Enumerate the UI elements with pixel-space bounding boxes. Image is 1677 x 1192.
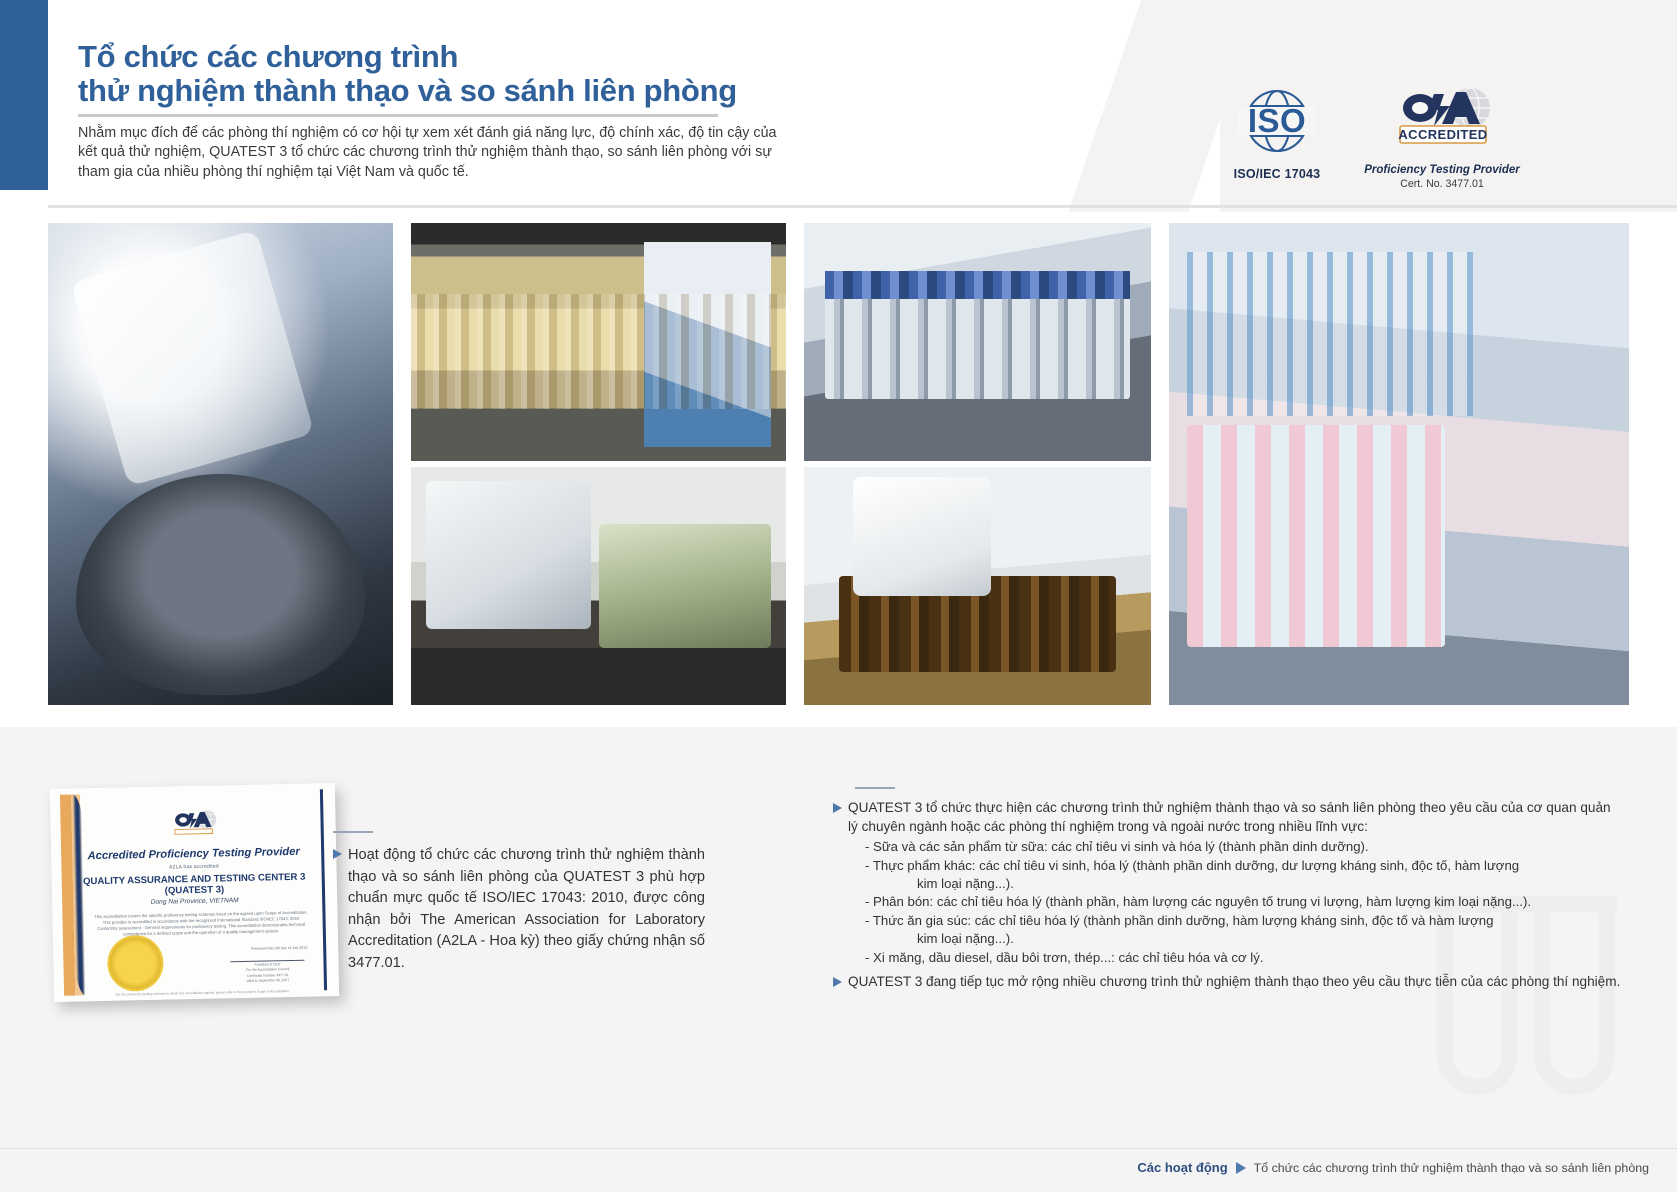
header-blue-sidebar (0, 0, 48, 190)
list-item: - Xi măng, dầu diesel, dầu bôi trơn, thé… (833, 949, 1623, 967)
certificate-org: QUALITY ASSURANCE AND TESTING CENTER 3 (… (52, 871, 337, 899)
page-title: Tổ chức các chương trình thử nghiệm thàn… (78, 40, 1078, 108)
page-header: Tổ chức các chương trình thử nghiệm thàn… (0, 0, 1677, 212)
photo-gallery (0, 212, 1677, 727)
list-item: - Sữa và các sản phẩm từ sữa: các chỉ ti… (833, 838, 1623, 856)
list-item-continuation: kim loại nặng...). (865, 930, 1623, 948)
list-item: - Thực phẩm khác: các chỉ tiêu vi sinh, … (833, 857, 1623, 894)
middle-tick-rule (333, 831, 373, 833)
certificate-signature-block: President & CEO For the Accreditation Co… (230, 960, 304, 984)
header-blue-sidebar-foot (0, 190, 48, 212)
right-tick-rule (855, 787, 895, 789)
a2la-caption-primary: Proficiency Testing Provider (1352, 164, 1532, 176)
certificate-thumbnail[interactable]: Accredited Proficiency Testing Provider … (50, 783, 339, 1002)
list-item-text: - Sữa và các sản phẩm từ sữa: các chỉ ti… (865, 839, 1369, 854)
list-item-text: - Thức ăn gia súc: các chỉ tiêu hóa lý (… (865, 913, 1493, 928)
arrow-right-icon (1236, 1162, 1246, 1174)
iso-logo-block: ISO ISO/IEC 17043 (1222, 88, 1332, 181)
arrow-bullet-icon (833, 803, 842, 813)
photo-incubator-tubes (411, 223, 786, 461)
list-item: - Thức ăn gia súc: các chỉ tiêu hóa lý (… (833, 912, 1623, 949)
photo-extraction-system (1169, 223, 1629, 705)
right-bullet-row-1: QUATEST 3 tổ chức thực hiện các chương t… (833, 799, 1623, 836)
list-item-text: - Thực phẩm khác: các chỉ tiêu vi sinh, … (865, 858, 1519, 873)
middle-column: Hoạt động tổ chức các chương trình thử n… (333, 845, 705, 974)
a2la-accredited-icon: ACCREDITED (1372, 86, 1512, 152)
certificate-presented-date: Presented this 5th day of July 2013. (251, 946, 308, 951)
certificate-footer-note: For the proficiency testing schemes to w… (94, 989, 311, 998)
a2la-caption-cert-number: Cert. No. 3477.01 (1352, 178, 1532, 190)
page-subtitle: Nhằm mục đích để các phòng thí nghiệm có… (78, 124, 778, 182)
right-sub-list: - Sữa và các sản phẩm từ sữa: các chỉ ti… (833, 838, 1623, 967)
photo-vial-rack (804, 223, 1151, 461)
right-bullet-text-2: QUATEST 3 đang tiếp tục mở rộng nhiều ch… (848, 973, 1620, 992)
iso-globe-icon: ISO (1222, 88, 1332, 154)
certificate-body: Accredited Proficiency Testing Provider … (50, 783, 339, 1002)
footer-caption: Các hoạt động Tổ chức các chương trình t… (1137, 1160, 1649, 1175)
brochure-page: Tổ chức các chương trình thử nghiệm thàn… (0, 0, 1677, 1192)
list-item: - Phân bón: các chỉ tiêu hóa lý (thành p… (833, 893, 1623, 911)
lower-content: Accredited Proficiency Testing Provider … (0, 727, 1677, 1192)
list-item-continuation: kim loại nặng...). (865, 875, 1623, 893)
photo-reagent-bottles (804, 467, 1151, 705)
certificate-a2la-icon (160, 805, 227, 842)
right-column: QUATEST 3 tổ chức thực hiện các chương t… (833, 799, 1623, 992)
footer-label: Các hoạt động (1137, 1160, 1227, 1175)
certificate-body-text: This accreditation covers the specific p… (92, 910, 309, 939)
photo-sample-packaging (411, 467, 786, 705)
photo-lab-glassware (48, 223, 393, 705)
title-underline (78, 114, 718, 117)
middle-bullet-text: Hoạt động tổ chức các chương trình thử n… (348, 845, 705, 974)
middle-bullet-row: Hoạt động tổ chức các chương trình thử n… (333, 845, 705, 974)
svg-text:ISO: ISO (1248, 102, 1306, 139)
right-bullet-text-1: QUATEST 3 tổ chức thực hiện các chương t… (848, 799, 1623, 836)
page-title-line-2: thử nghiệm thành thạo và so sánh liên ph… (78, 74, 1078, 108)
list-item-text: - Phân bón: các chỉ tiêu hóa lý (thành p… (865, 894, 1531, 909)
certificate-seal (109, 937, 162, 990)
header-bottom-rule (48, 205, 1677, 208)
svg-text:ACCREDITED: ACCREDITED (1398, 127, 1487, 142)
certificate-valid-to: Valid to September 30, 2017 (231, 978, 305, 984)
right-bullet-row-2: QUATEST 3 đang tiếp tục mở rộng nhiều ch… (833, 973, 1623, 992)
page-footer: Các hoạt động Tổ chức các chương trình t… (0, 1148, 1677, 1192)
page-title-line-1: Tổ chức các chương trình (78, 40, 1078, 74)
certificate-heading: Accredited Proficiency Testing Provider (51, 845, 336, 863)
arrow-bullet-icon (333, 849, 342, 859)
iso-caption: ISO/IEC 17043 (1222, 167, 1332, 181)
footer-text: Tổ chức các chương trình thử nghiệm thàn… (1254, 1161, 1649, 1175)
footer-rule (0, 1148, 1677, 1149)
list-item-text: - Xi măng, dầu diesel, dầu bôi trơn, thé… (865, 950, 1263, 965)
arrow-bullet-icon (833, 977, 842, 987)
a2la-logo-block: ACCREDITED Proficiency Testing Provider … (1352, 86, 1532, 190)
